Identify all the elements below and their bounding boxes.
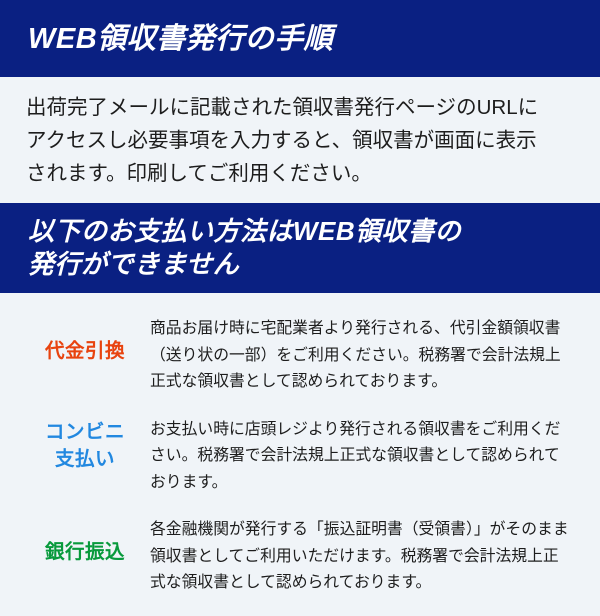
intro-section: 出荷完了メールに記載された領収書発行ページのURLに アクセスし必要事項を入力す… [0,77,600,203]
method-label-konbini: コンビニ 支払い [26,415,144,473]
primary-banner: WEB領収書発行の手順 [0,0,600,77]
secondary-banner-title: 以下のお支払い方法はWEB領収書の 発行ができません [28,215,461,281]
method-label-cod: 代金引換 [26,314,144,365]
method-label-bank-transfer: 銀行振込 [26,515,144,566]
secondary-banner: 以下のお支払い方法はWEB領収書の 発行ができません [0,203,600,293]
payment-method-list: 代金引換 商品お届け時に宅配業者より発行される、代引金額領収書 （送り状の一部）… [0,293,600,616]
method-description-konbini: お支払い時に店頭レジより発行される領収書をご利用くだ さい。税務署で会計法規上正… [144,415,586,497]
list-item: 代金引換 商品お届け時に宅配業者より発行される、代引金額領収書 （送り状の一部）… [0,314,600,396]
page-title: WEB領収書発行の手順 [28,22,333,56]
receipt-info-page: WEB領収書発行の手順 出荷完了メールに記載された領収書発行ページのURLに ア… [0,0,600,600]
list-item: コンビニ 支払い お支払い時に店頭レジより発行される領収書をご利用くだ さい。税… [0,415,600,497]
method-description-bank-transfer: 各金融機関が発行する「振込証明書（受領書）」がそのまま 領収書としてご利用いただ… [144,515,586,597]
list-item: 銀行振込 各金融機関が発行する「振込証明書（受領書）」がそのまま 領収書としてご… [0,515,600,597]
method-description-cod: 商品お届け時に宅配業者より発行される、代引金額領収書 （送り状の一部）をご利用く… [144,314,586,396]
intro-paragraph: 出荷完了メールに記載された領収書発行ページのURLに アクセスし必要事項を入力す… [26,91,574,190]
